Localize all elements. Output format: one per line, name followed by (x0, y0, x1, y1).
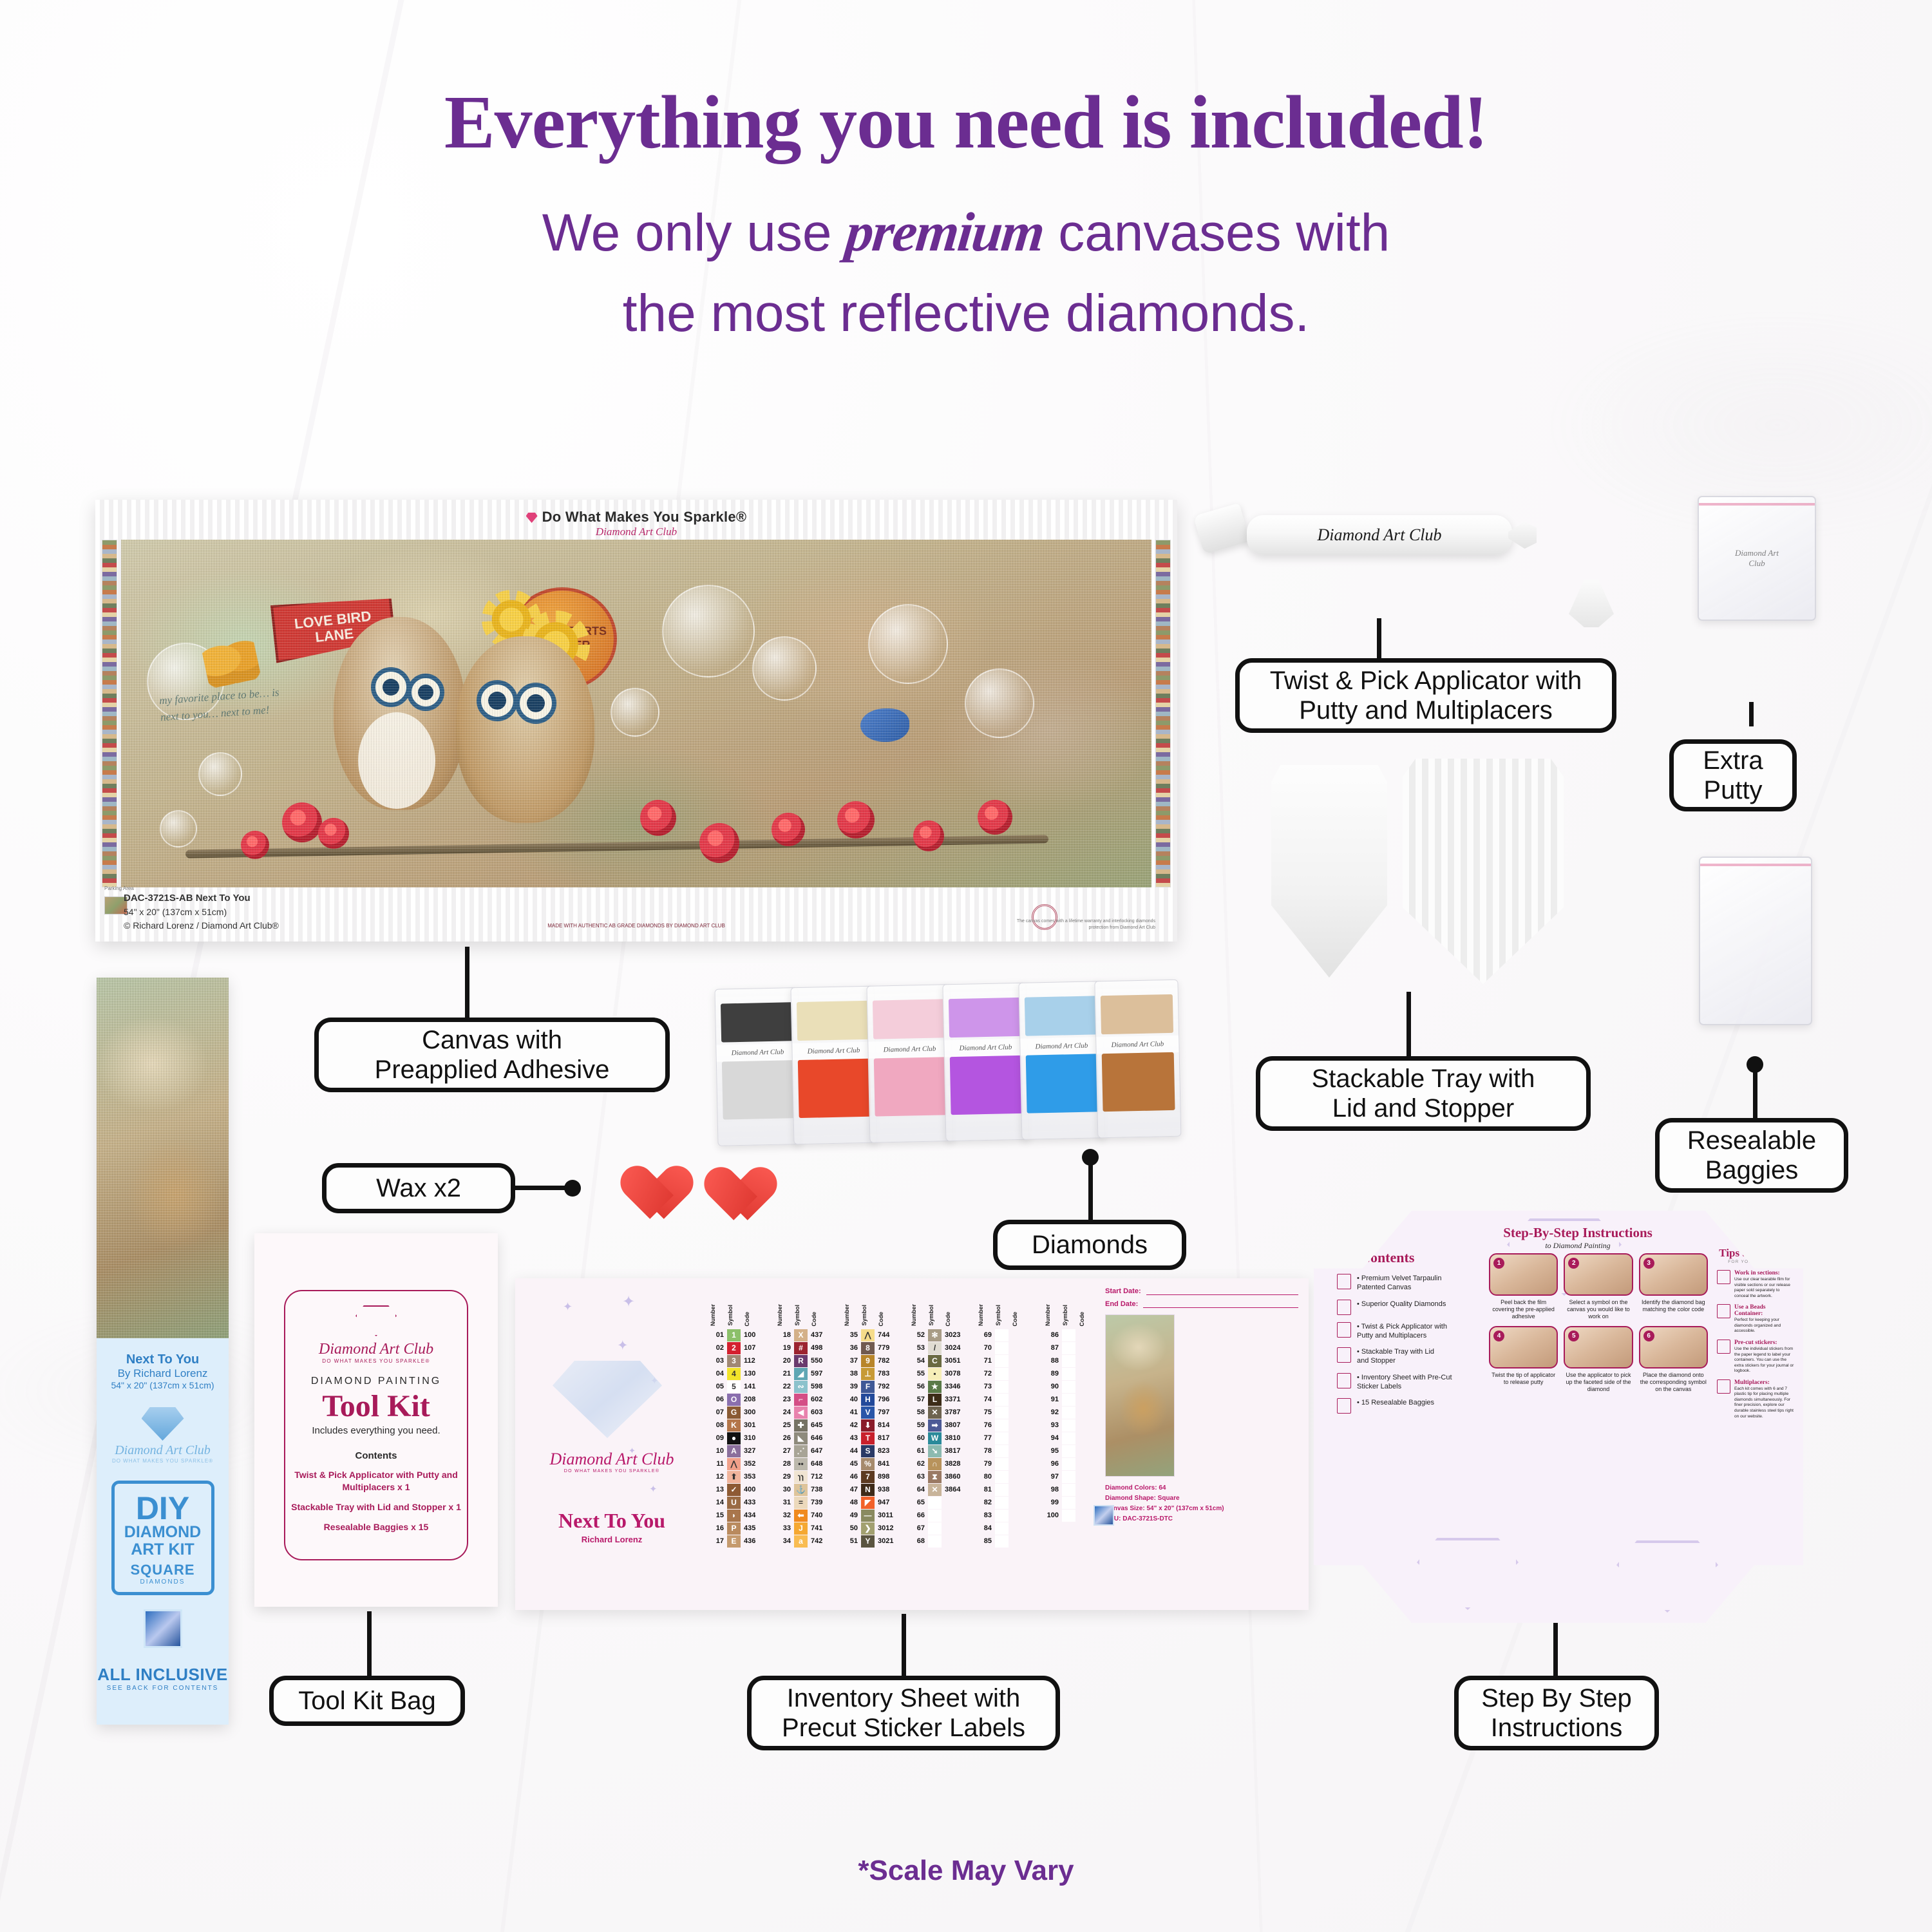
kit-contents-item: • Premium Velvet Tarpaulin Patented Canv… (1337, 1274, 1482, 1293)
color-code: 741 (811, 1524, 829, 1532)
color-number: 91 (1045, 1396, 1059, 1403)
color-code: 310 (744, 1434, 762, 1442)
subheadline-line-1: We only use premium canvases with (0, 200, 1932, 264)
color-chart-row: 55▪3078 (911, 1367, 963, 1380)
color-number: 25 (777, 1421, 791, 1429)
color-code: 648 (811, 1460, 829, 1468)
color-number: 62 (911, 1460, 925, 1468)
color-code: 112 (744, 1357, 762, 1365)
color-symbol-swatch (928, 1510, 942, 1522)
color-symbol-swatch (995, 1394, 1009, 1406)
color-code: 400 (744, 1486, 762, 1493)
color-symbol-swatch (995, 1406, 1009, 1419)
diy-badge-line2: DIAMOND (115, 1524, 211, 1541)
color-code: 435 (744, 1524, 762, 1532)
color-chart-row: 27⋰647 (777, 1444, 829, 1457)
color-number: 77 (978, 1434, 992, 1442)
color-number: 65 (911, 1499, 925, 1506)
color-code: 130 (744, 1370, 762, 1378)
color-number: 12 (710, 1473, 724, 1481)
color-symbol-swatch: ✻ (928, 1329, 942, 1341)
color-code: 3051 (945, 1357, 963, 1365)
tip-icon (1717, 1304, 1730, 1318)
instructions-sheet-product: Step-By-Step Instructions to Diamond Pai… (1314, 1211, 1803, 1623)
color-code: 602 (811, 1396, 829, 1403)
color-number: 35 (844, 1331, 858, 1339)
color-code: 107 (744, 1344, 762, 1352)
color-chart-header: Code (811, 1312, 829, 1327)
color-symbol-swatch: ● (727, 1432, 741, 1444)
color-chart-row: 379782 (844, 1354, 896, 1367)
color-number: 88 (1045, 1357, 1059, 1365)
color-number: 97 (1045, 1473, 1059, 1481)
color-chart-row: 56★3346 (911, 1380, 963, 1393)
color-code: 3787 (945, 1408, 963, 1416)
color-symbol-swatch: ▪ (928, 1368, 942, 1380)
color-symbol-swatch (995, 1458, 1009, 1470)
color-number: 95 (1045, 1447, 1059, 1455)
color-symbol-swatch: A (727, 1445, 741, 1457)
color-chart-row: 09●310 (710, 1432, 762, 1444)
color-number: 13 (710, 1486, 724, 1493)
square-diamond-icon (1094, 1505, 1114, 1526)
color-symbol-swatch: ⬅ (794, 1510, 808, 1522)
kit-contents-item: • 15 Resealable Baggies (1337, 1398, 1482, 1414)
color-chart-row: 57L3371 (911, 1393, 963, 1406)
color-chart-row: 044130 (710, 1367, 762, 1380)
color-number: 80 (978, 1473, 992, 1481)
step-number-badge: 1 (1493, 1258, 1504, 1269)
tip-item: Pre-cut stickers:Use the individual stic… (1717, 1340, 1794, 1374)
color-chart-row: 54C3051 (911, 1354, 963, 1367)
kit-contents-item: • Superior Quality Diamonds (1337, 1300, 1482, 1315)
color-symbol-swatch: W (928, 1432, 942, 1444)
kit-contents-label: • Superior Quality Diamonds (1357, 1300, 1446, 1315)
color-chart-row: 96 (1045, 1457, 1097, 1470)
instruction-step: 2Select a symbol on the canvas you would… (1564, 1253, 1633, 1320)
color-code: 817 (878, 1434, 896, 1442)
tip-title: Multiplacers: (1734, 1379, 1794, 1386)
color-chart-row: 100 (1045, 1509, 1097, 1522)
color-chart-row: 61➘3817 (911, 1444, 963, 1457)
color-symbol-swatch: ✚ (794, 1419, 808, 1432)
color-number: 78 (978, 1447, 992, 1455)
color-code: 3864 (945, 1486, 963, 1493)
color-chart-row: 81 (978, 1483, 1030, 1496)
color-number: 98 (1045, 1486, 1059, 1493)
color-symbol-swatch (1062, 1471, 1075, 1483)
color-chart-row: 022107 (710, 1341, 762, 1354)
color-number: 81 (978, 1486, 992, 1493)
canvas-sku-title: DAC-3721S-AB Next To You (124, 891, 279, 906)
color-number: 14 (710, 1499, 724, 1506)
tip-icon (1717, 1379, 1730, 1394)
color-symbol-swatch: ✕ (928, 1484, 942, 1496)
color-symbol-swatch: ⚓ (794, 1484, 808, 1496)
color-symbol-swatch: K (727, 1419, 741, 1432)
color-chart-row: 19#498 (777, 1341, 829, 1354)
step-caption: Twist the tip of applicator to release p… (1489, 1372, 1558, 1386)
color-number: 29 (777, 1473, 791, 1481)
instructions-title-block: Step-By-Step Instructions to Diamond Pai… (1494, 1225, 1662, 1251)
color-symbol-swatch: ◤ (861, 1497, 875, 1509)
color-code: 947 (878, 1499, 896, 1506)
color-chart-row: 65 (911, 1496, 963, 1509)
color-symbol-swatch: G (727, 1406, 741, 1419)
color-chart-row: 95 (1045, 1444, 1097, 1457)
color-chart-row: 49—3011 (844, 1509, 896, 1522)
color-chart-row: 07G300 (710, 1406, 762, 1419)
butterfly-motif (201, 636, 261, 689)
color-chart-header: Symbol (727, 1305, 741, 1326)
color-symbol-swatch: ⋀ (861, 1329, 875, 1341)
color-symbol-swatch (995, 1497, 1009, 1509)
diy-badge-shape-sub: DIAMONDS (115, 1578, 211, 1586)
color-chart-row: 74 (978, 1393, 1030, 1406)
step-caption: Identify the diamond bag matching the co… (1639, 1299, 1708, 1313)
color-chart-row: 06O208 (710, 1393, 762, 1406)
instructions-subtitle: to Diamond Painting (1494, 1241, 1662, 1251)
color-chart-row: 90 (1045, 1380, 1097, 1393)
color-number: 09 (710, 1434, 724, 1442)
color-chart-header: Code (1079, 1312, 1097, 1327)
color-code: 434 (744, 1511, 762, 1519)
color-symbol-swatch: ⬆ (727, 1471, 741, 1483)
color-symbol-swatch (928, 1497, 942, 1509)
diy-diamond-swatch (144, 1609, 182, 1648)
color-number: 37 (844, 1357, 858, 1365)
color-code: 3371 (945, 1396, 963, 1403)
leader-line (1088, 1157, 1093, 1220)
color-symbol-swatch (928, 1535, 942, 1548)
kit-item-icon (1337, 1347, 1351, 1363)
color-chart-row: 35⋀744 (844, 1329, 896, 1341)
color-code: 3860 (945, 1473, 963, 1481)
color-chart-row: 53/3024 (911, 1341, 963, 1354)
canvas-artwork: LOVE BIRD LANE SWEETHEARTS FOREVER my fa… (121, 540, 1151, 887)
color-number: 74 (978, 1396, 992, 1403)
tool-kit-content-item: Twist & Pick Applicator with Putty and M… (285, 1469, 467, 1493)
color-symbol-swatch (995, 1342, 1009, 1354)
color-number: 61 (911, 1447, 925, 1455)
color-code: 3024 (945, 1344, 963, 1352)
color-chart-row: 60W3810 (911, 1432, 963, 1444)
inventory-metadata: Diamond Colors: 64 Diamond Shape: Square… (1105, 1483, 1298, 1524)
color-symbol-swatch: N (861, 1484, 875, 1496)
color-chart-header: Symbol (1062, 1305, 1075, 1326)
color-chart-row: 79 (978, 1457, 1030, 1470)
bluebird-motif (860, 708, 909, 742)
color-number: 79 (978, 1460, 992, 1468)
color-symbol-swatch: # (794, 1342, 808, 1354)
diy-kit-box: Next To You By Richard Lorenz 54" x 20" … (97, 978, 229, 1725)
color-chart-header: Number (777, 1304, 791, 1326)
color-symbol-swatch: U (727, 1497, 741, 1509)
diamond-icon (553, 1361, 662, 1438)
color-symbol-swatch (1062, 1432, 1075, 1444)
inventory-diamond-shape: Diamond Shape: Square (1105, 1493, 1298, 1504)
inventory-sku: SKU: DAC-3721S-DTC (1105, 1514, 1298, 1524)
color-code: 3012 (878, 1524, 896, 1532)
callout-tool-kit-bag: Tool Kit Bag (269, 1676, 465, 1726)
canvas-tagline: Do What Makes You Sparkle® (95, 509, 1177, 526)
diamond-icon (526, 513, 538, 523)
diy-box-artwork (97, 978, 229, 1338)
diy-box-brand: Diamond Art ClubDO WHAT MAKES YOU SPARKL… (97, 1443, 229, 1464)
diamond-icon (355, 1305, 397, 1336)
color-code: 823 (878, 1447, 896, 1455)
kit-contents-header: Kit Contents (1337, 1249, 1482, 1266)
step-number-badge: 3 (1643, 1258, 1654, 1269)
color-code: 3817 (945, 1447, 963, 1455)
color-number: 57 (911, 1396, 925, 1403)
color-chart-row: 66 (911, 1509, 963, 1522)
canvas-certification-text: MADE WITH AUTHENTIC AB GRADE DIAMONDS BY… (498, 922, 775, 930)
color-number: 20 (777, 1357, 791, 1365)
color-code: 938 (878, 1486, 896, 1493)
kit-item-icon (1337, 1322, 1351, 1338)
color-number: 94 (1045, 1434, 1059, 1442)
color-symbol-swatch: 3 (727, 1355, 741, 1367)
color-symbol-swatch: R (794, 1355, 808, 1367)
color-symbol-swatch (995, 1471, 1009, 1483)
page-headline: Everything you need is included! (0, 79, 1932, 166)
color-number: 18 (777, 1331, 791, 1339)
tips-title: Tips and Tricks (1717, 1247, 1794, 1260)
inventory-sheet-details: Start Date: End Date: Diamond Colors: 64… (1105, 1287, 1298, 1524)
color-symbol-swatch: O (727, 1394, 741, 1406)
color-symbol-swatch (1062, 1368, 1075, 1380)
color-chart-row: 20R550 (777, 1354, 829, 1367)
instruction-step: 6Place the diamond onto the correspondin… (1639, 1326, 1708, 1393)
color-number: 67 (911, 1524, 925, 1532)
color-number: 96 (1045, 1460, 1059, 1468)
color-symbol-swatch: 9 (861, 1355, 875, 1367)
color-code: 100 (744, 1331, 762, 1339)
color-code: 3011 (878, 1511, 896, 1519)
color-code: 3078 (945, 1370, 963, 1378)
color-number: 28 (777, 1460, 791, 1468)
step-photo: 2 (1564, 1253, 1633, 1296)
callout-canvas-adhesive: Canvas with Preapplied Adhesive (314, 1018, 670, 1092)
kit-contents-block: Kit Contents • Premium Velvet Tarpaulin … (1337, 1249, 1482, 1421)
color-symbol-swatch: ⬇ (861, 1419, 875, 1432)
color-code: 738 (811, 1486, 829, 1493)
kit-contents-label: • Twist & Pick Applicator with Putty and… (1357, 1322, 1447, 1341)
tip-item: Work in sections:Use our clear tearable … (1717, 1270, 1794, 1299)
color-symbol-swatch: •• (794, 1458, 808, 1470)
color-symbol-swatch: ⧗ (928, 1471, 942, 1483)
color-number: 53 (911, 1344, 925, 1352)
color-symbol-swatch: 5 (727, 1381, 741, 1393)
canvas-warranty-text: The canvas comes with a lifetime warrant… (1007, 918, 1155, 931)
color-symbol-swatch: T (861, 1432, 875, 1444)
leader-dot (564, 1180, 581, 1197)
color-chart-header: Number (844, 1304, 858, 1326)
end-date-field[interactable]: End Date: (1105, 1300, 1298, 1308)
color-chart-row: 28••648 (777, 1457, 829, 1470)
canvas-product: Do What Makes You Sparkle® Diamond Art C… (95, 500, 1177, 942)
leader-line (367, 1611, 372, 1676)
start-date-field[interactable]: Start Date: (1105, 1287, 1298, 1295)
color-symbol-swatch (1062, 1394, 1075, 1406)
color-code: 141 (744, 1383, 762, 1390)
tool-kit-brand-tagline: DO WHAT MAKES YOU SPARKLE® (285, 1359, 467, 1364)
step-photo: 6 (1639, 1326, 1708, 1368)
color-symbol-swatch (995, 1535, 1009, 1548)
step-caption: Place the diamond onto the corresponding… (1639, 1372, 1708, 1393)
color-chart-row: 91 (1045, 1393, 1097, 1406)
color-chart-row: 011100 (710, 1329, 762, 1341)
color-code: 550 (811, 1357, 829, 1365)
color-symbol-swatch: ➡ (928, 1419, 942, 1432)
step-photo: 4 (1489, 1326, 1558, 1368)
color-symbol-swatch: L (928, 1394, 942, 1406)
color-number: 43 (844, 1434, 858, 1442)
diy-box-title: Next To You (97, 1352, 229, 1367)
color-number: 69 (978, 1331, 992, 1339)
color-symbol-swatch (1062, 1497, 1075, 1509)
color-symbol-swatch (1062, 1510, 1075, 1522)
color-number: 30 (777, 1486, 791, 1493)
color-symbol-swatch: V (861, 1406, 875, 1419)
color-code: 647 (811, 1447, 829, 1455)
color-chart-header: Number (978, 1304, 992, 1326)
color-chart-row: 467898 (844, 1470, 896, 1483)
color-code: 3810 (945, 1434, 963, 1442)
color-symbol-swatch: ◗ (727, 1510, 741, 1522)
tip-body: Each kit comes with 6 and 7 plastic tip … (1734, 1387, 1794, 1419)
tool-kit-subtitle: Includes everything you need. (285, 1425, 467, 1436)
canvas-legend-strip-left (102, 540, 117, 887)
color-symbol-swatch: — (861, 1510, 875, 1522)
tips-block: Tips and Tricks FOR YOUR PROJECT Work in… (1717, 1247, 1794, 1425)
inventory-title: Next To You (515, 1509, 708, 1533)
color-code: 436 (744, 1537, 762, 1545)
color-chart-row: 34a742 (777, 1535, 829, 1548)
color-number: 10 (710, 1447, 724, 1455)
color-chart-header: Symbol (995, 1305, 1009, 1326)
diy-badge: DIY DIAMOND ART KIT SQUARE DIAMONDS (111, 1481, 214, 1595)
color-number: 38 (844, 1370, 858, 1378)
callout-wax: Wax x2 (322, 1163, 515, 1213)
color-symbol-swatch (995, 1355, 1009, 1367)
subheadline-part-2: canvases with (1043, 204, 1390, 262)
color-number: 89 (1045, 1370, 1059, 1378)
color-number: 27 (777, 1447, 791, 1455)
color-code: 3021 (878, 1537, 896, 1545)
color-symbol-swatch: ∾ (794, 1381, 808, 1393)
color-code: 352 (744, 1460, 762, 1468)
color-code: 645 (811, 1421, 829, 1429)
color-symbol-swatch: 7 (861, 1471, 875, 1483)
inventory-brand: Diamond Art ClubDO WHAT MAKES YOU SPARKL… (515, 1450, 708, 1473)
step-photo: 3 (1639, 1253, 1708, 1296)
color-number: 42 (844, 1421, 858, 1429)
color-number: 55 (911, 1370, 925, 1378)
color-number: 36 (844, 1344, 858, 1352)
color-chart-row: 86 (1045, 1329, 1097, 1341)
step-number-badge: 4 (1493, 1331, 1504, 1341)
color-chart-row: 38⊥783 (844, 1367, 896, 1380)
color-number: 63 (911, 1473, 925, 1481)
color-symbol-swatch: ❯ (861, 1522, 875, 1535)
tip-body: Use our clear tearable film for visible … (1734, 1277, 1794, 1299)
baggie-brand-label: Diamond Art Club (1728, 548, 1786, 569)
color-chart-row: 58✕3787 (911, 1406, 963, 1419)
color-number: 54 (911, 1357, 925, 1365)
color-chart-row: 23⌐602 (777, 1393, 829, 1406)
tool-kit-brand: Diamond Art ClubDO WHAT MAKES YOU SPARKL… (285, 1341, 467, 1364)
subheadline-part-1: We only use (542, 204, 847, 262)
color-code: 3023 (945, 1331, 963, 1339)
leader-line (1753, 1064, 1757, 1118)
start-date-label: Start Date: (1105, 1287, 1141, 1295)
color-symbol-swatch: ⌐ (794, 1394, 808, 1406)
leader-line (1553, 1623, 1558, 1676)
diy-all-inclusive-block: ALL INCLUSIVE SEE BACK FOR CONTENTS (97, 1665, 229, 1692)
color-chart-row: 62∩3828 (911, 1457, 963, 1470)
color-chart-row: 15◗434 (710, 1509, 762, 1522)
color-symbol-swatch: 4 (727, 1368, 741, 1380)
color-symbol-swatch: = (794, 1497, 808, 1509)
color-code: 796 (878, 1396, 896, 1403)
color-number: 15 (710, 1511, 724, 1519)
color-code: 792 (878, 1383, 896, 1390)
instruction-step: 4Twist the tip of applicator to release … (1489, 1326, 1558, 1393)
color-chart-row: 10A327 (710, 1444, 762, 1457)
wax-heart (694, 1141, 757, 1199)
color-number: 31 (777, 1499, 791, 1506)
color-chart-row: 18X437 (777, 1329, 829, 1341)
inventory-brand-tagline: DO WHAT MAKES YOU SPARKLE® (515, 1469, 708, 1473)
color-chart-row: 72 (978, 1367, 1030, 1380)
color-number: 22 (777, 1383, 791, 1390)
color-chart-row: 82 (978, 1496, 1030, 1509)
color-chart-row: 40H796 (844, 1393, 896, 1406)
color-number: 56 (911, 1383, 925, 1390)
color-chart-row: 43T817 (844, 1432, 896, 1444)
color-chart-row: 41V797 (844, 1406, 896, 1419)
color-symbol-swatch (1062, 1484, 1075, 1496)
color-symbol-swatch (1062, 1419, 1075, 1432)
color-symbol-swatch (995, 1381, 1009, 1393)
color-number: 26 (777, 1434, 791, 1442)
kit-contents-label: • Inventory Sheet with Pre-Cut Sticker L… (1357, 1373, 1452, 1392)
step-caption: Use the applicator to pick up the facete… (1564, 1372, 1633, 1393)
color-chart-column: NumberSymbolCode18X43719#49820R55021◢597… (777, 1291, 829, 1601)
callout-step-by-step: Step By Step Instructions (1454, 1676, 1659, 1750)
kit-contents-item: • Stackable Tray with Lid and Stopper (1337, 1347, 1482, 1366)
color-number: 33 (777, 1524, 791, 1532)
color-number: 01 (710, 1331, 724, 1339)
color-chart-row: 29ɿɿ712 (777, 1470, 829, 1483)
color-number: 93 (1045, 1421, 1059, 1429)
color-chart-column: NumberSymbolCode868788899091929394959697… (1045, 1291, 1097, 1601)
color-symbol-swatch (995, 1419, 1009, 1432)
color-number: 23 (777, 1396, 791, 1403)
color-code: 779 (878, 1344, 896, 1352)
color-chart-row: 25✚645 (777, 1419, 829, 1432)
step-number-badge: 5 (1568, 1331, 1579, 1341)
end-date-label: End Date: (1105, 1300, 1138, 1308)
color-number: 72 (978, 1370, 992, 1378)
color-code: 301 (744, 1421, 762, 1429)
color-code: 739 (811, 1499, 829, 1506)
color-chart-row: 45%841 (844, 1457, 896, 1470)
wax-heart (611, 1140, 674, 1198)
color-number: 87 (1045, 1344, 1059, 1352)
